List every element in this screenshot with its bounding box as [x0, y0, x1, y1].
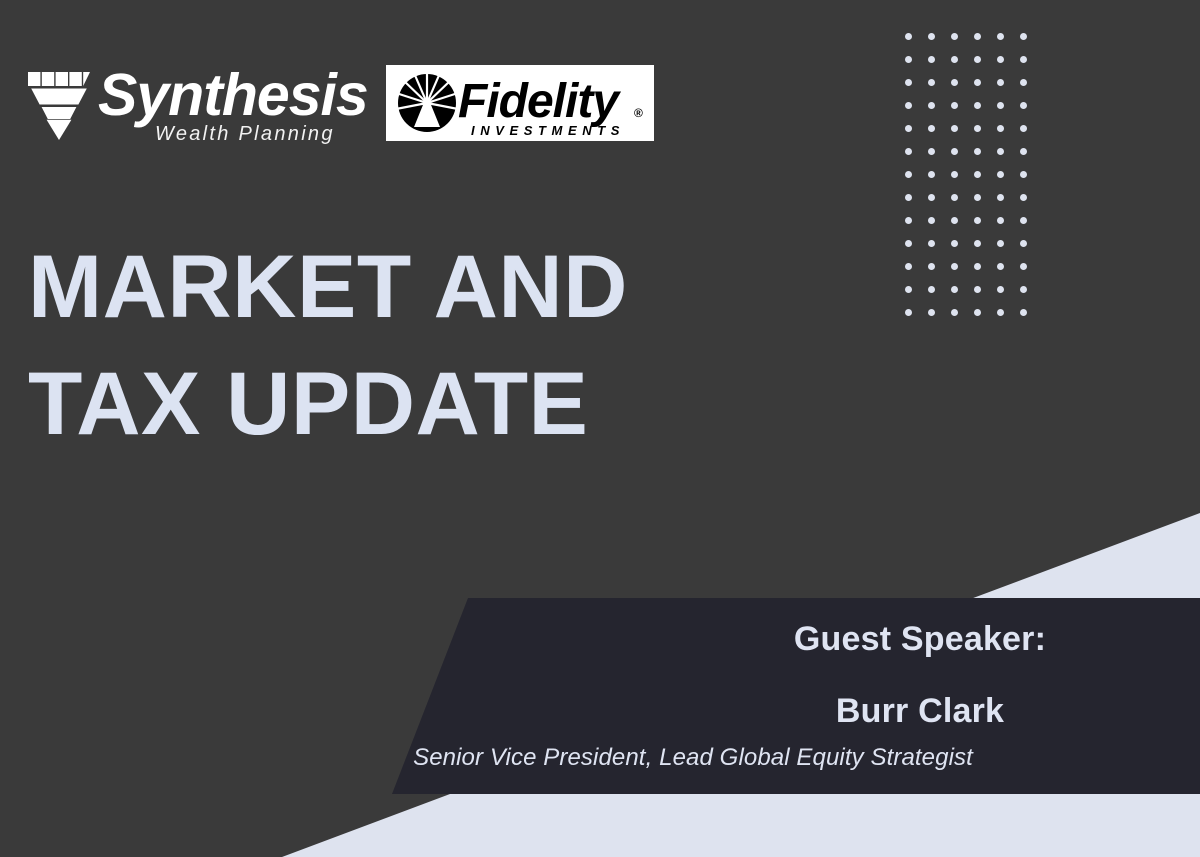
grid-dot [997, 263, 1004, 270]
presentation-slide: Synthesis Wealth Planning [0, 0, 1200, 857]
grid-dot [974, 286, 981, 293]
grid-dot [997, 286, 1004, 293]
guest-speaker-name: Burr Clark [510, 692, 1200, 731]
grid-dot [1020, 194, 1027, 201]
grid-dot [1020, 79, 1027, 86]
grid-dot [974, 194, 981, 201]
grid-dot [905, 286, 912, 293]
grid-dot [928, 309, 935, 316]
grid-dot [928, 217, 935, 224]
grid-dot [951, 56, 958, 63]
grid-dot [905, 125, 912, 132]
grid-dot [974, 240, 981, 247]
grid-dot [928, 102, 935, 109]
grid-dot [997, 309, 1004, 316]
grid-dot [997, 148, 1004, 155]
grid-dot [928, 56, 935, 63]
grid-dot [928, 79, 935, 86]
grid-dot [905, 240, 912, 247]
grid-dot [997, 102, 1004, 109]
grid-dot [951, 217, 958, 224]
grid-dot [1020, 286, 1027, 293]
guest-speaker-heading: Guest Speaker: [510, 620, 1200, 659]
grid-dot [905, 171, 912, 178]
grid-dot [997, 79, 1004, 86]
grid-dot [928, 194, 935, 201]
grid-dot [974, 309, 981, 316]
grid-dot [974, 125, 981, 132]
grid-dot [951, 33, 958, 40]
grid-dot [928, 148, 935, 155]
grid-dot [974, 33, 981, 40]
grid-dot [997, 33, 1004, 40]
grid-dot [997, 240, 1004, 247]
grid-dot [951, 286, 958, 293]
grid-dot [928, 125, 935, 132]
grid-dot [928, 286, 935, 293]
grid-dot [951, 79, 958, 86]
grid-dot [905, 56, 912, 63]
title-line-2: TAX UPDATE [28, 345, 628, 462]
grid-dot [1020, 217, 1027, 224]
grid-dot [905, 217, 912, 224]
fidelity-name: Fidelity [458, 75, 621, 128]
grid-dot [928, 33, 935, 40]
grid-dot [974, 171, 981, 178]
grid-dot [928, 263, 935, 270]
synthesis-tagline: Wealth Planning [155, 124, 335, 144]
grid-dot [951, 102, 958, 109]
grid-dot [1020, 33, 1027, 40]
fidelity-subtitle: INVESTMENTS [471, 123, 625, 138]
logo-row: Synthesis Wealth Planning [28, 62, 654, 144]
fidelity-investments-logo: Fidelity ® INVESTMENTS [386, 65, 654, 141]
grid-dot [997, 56, 1004, 63]
grid-dot [1020, 125, 1027, 132]
grid-dot [951, 309, 958, 316]
guest-speaker-role: Senior Vice President, Lead Global Equit… [283, 744, 1103, 772]
grid-dot [905, 148, 912, 155]
grid-dot [951, 125, 958, 132]
page-title: MARKET AND TAX UPDATE [28, 228, 628, 463]
grid-dot [928, 240, 935, 247]
grid-dot [974, 148, 981, 155]
grid-dot [905, 309, 912, 316]
grid-dot [974, 79, 981, 86]
grid-dot [905, 263, 912, 270]
grid-dot [905, 33, 912, 40]
grid-dot [951, 263, 958, 270]
grid-dot [1020, 102, 1027, 109]
grid-dot [1020, 240, 1027, 247]
grid-dot [905, 102, 912, 109]
grid-dot [951, 194, 958, 201]
grid-dot [928, 171, 935, 178]
synthesis-wealth-planning-logo: Synthesis Wealth Planning [28, 62, 350, 144]
grid-dot [905, 79, 912, 86]
grid-dot [997, 194, 1004, 201]
grid-dot [974, 263, 981, 270]
grid-dot [997, 217, 1004, 224]
grid-dot [951, 171, 958, 178]
grid-dot [1020, 263, 1027, 270]
grid-dot [951, 148, 958, 155]
grid-dot [974, 217, 981, 224]
synthesis-wordmark: Synthesis Wealth Planning [98, 62, 350, 144]
grid-dot [951, 240, 958, 247]
dot-grid-decoration [905, 33, 1043, 332]
grid-dot [1020, 56, 1027, 63]
title-line-1: MARKET AND [28, 228, 628, 345]
fidelity-trademark: ® [634, 106, 643, 120]
grid-dot [1020, 171, 1027, 178]
grid-dot [905, 194, 912, 201]
grid-dot [1020, 148, 1027, 155]
grid-dot [1020, 309, 1027, 316]
guest-speaker-panel: Guest Speaker: Burr Clark Senior Vice Pr… [380, 598, 1200, 794]
guest-speaker-content: Guest Speaker: Burr Clark Senior Vice Pr… [380, 598, 1200, 794]
grid-dot [974, 56, 981, 63]
grid-dot [974, 102, 981, 109]
grid-dot [997, 171, 1004, 178]
grid-dot [997, 125, 1004, 132]
inverted-pyramid-icon [28, 72, 90, 140]
synthesis-name: Synthesis [98, 66, 368, 125]
